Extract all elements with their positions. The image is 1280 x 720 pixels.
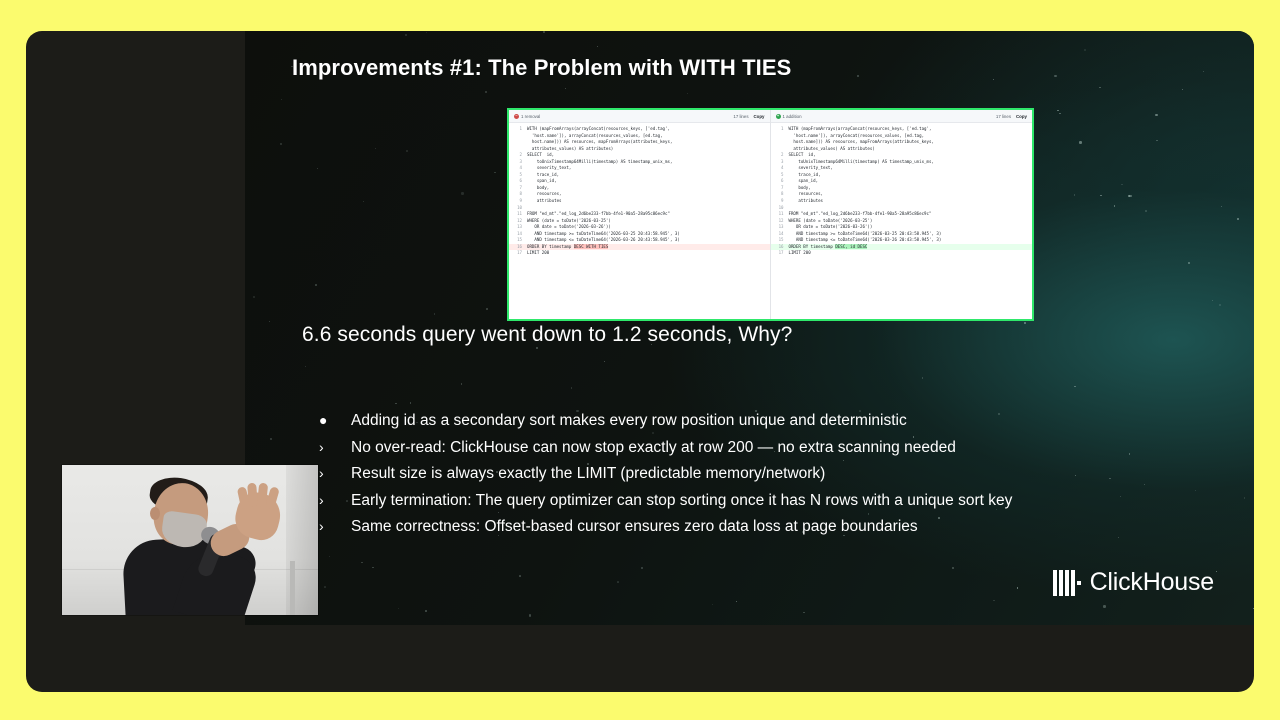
slide-title: Improvements #1: The Problem with WITH T… [292,55,791,81]
code-block-before: 1WITH (mapFromArrays(arrayConcat(resourc… [509,123,770,257]
removal-badge: − 1 removal [514,114,540,119]
bullet-item: ›Early termination: The query optimizer … [309,489,1209,512]
bullet-text: No over-read: ClickHouse can now stop ex… [351,436,956,459]
code-block-after: 1WITH (mapFromArrays(arrayConcat(resourc… [771,123,1033,257]
plus-circle-icon: + [776,114,781,119]
bullet-marker: › [309,436,351,459]
minus-circle-icon: − [514,114,519,119]
mic-stand [290,561,295,615]
addition-label: 1 addition [783,114,802,119]
code-diff-image: − 1 removal 17 lines Copy 1WITH (mapFrom… [507,108,1034,321]
bullet-text: Adding id as a secondary sort makes ever… [351,409,907,432]
code-line: 17LIMIT 200 [509,250,770,257]
changed-token: DESC WITH TIES [574,244,609,249]
addition-badge: + 1 addition [776,114,802,119]
clickhouse-wordmark: ClickHouse [1090,568,1214,597]
code-line: 17LIMIT 200 [771,250,1033,257]
speaker-ear [150,507,160,520]
removal-label: 1 removal [521,114,540,119]
changed-token: DESC, id DESC [835,244,867,249]
bullet-list: ●Adding id as a secondary sort makes eve… [309,409,1209,542]
speaker-video-tile[interactable] [62,465,318,615]
diff-pane-after: + 1 addition 17 lines Copy 1WITH (mapFro… [771,110,1033,319]
diff-header-actions-after: 17 lines Copy [996,114,1027,119]
bullet-item: ›Same correctness: Offset-based cursor e… [309,515,1209,538]
bullet-item: ●Adding id as a secondary sort makes eve… [309,409,1209,432]
clickhouse-logo: ClickHouse [1053,568,1214,597]
copy-button-before[interactable]: Copy [754,114,765,119]
line-text: LIMIT 200 [789,250,1031,257]
lines-count-before: 17 lines [733,114,748,119]
copy-button-after[interactable]: Copy [1016,114,1027,119]
bullet-text: Early termination: The query optimizer c… [351,489,1012,512]
clickhouse-logo-mark-icon [1053,570,1080,596]
slide: Improvements #1: The Problem with WITH T… [245,31,1254,625]
screenshot-root: Improvements #1: The Problem with WITH T… [0,0,1280,720]
diff-header-before: − 1 removal 17 lines Copy [509,110,770,123]
line-text: LIMIT 200 [527,250,768,257]
lines-count-after: 17 lines [996,114,1011,119]
line-number: 17 [511,250,527,257]
diff-header-after: + 1 addition 17 lines Copy [771,110,1033,123]
bullet-text: Same correctness: Offset-based cursor en… [351,515,918,538]
diff-pane-before: − 1 removal 17 lines Copy 1WITH (mapFrom… [509,110,771,319]
slide-question: 6.6 seconds query went down to 1.2 secon… [302,323,792,347]
bullet-item: ›No over-read: ClickHouse can now stop e… [309,436,1209,459]
bullet-marker: ● [309,409,351,432]
diff-header-actions-before: 17 lines Copy [733,114,764,119]
presentation-panel: Improvements #1: The Problem with WITH T… [26,31,1254,692]
bullet-text: Result size is always exactly the LIMIT … [351,462,825,485]
bullet-item: ›Result size is always exactly the LIMIT… [309,462,1209,485]
line-number: 17 [773,250,789,257]
